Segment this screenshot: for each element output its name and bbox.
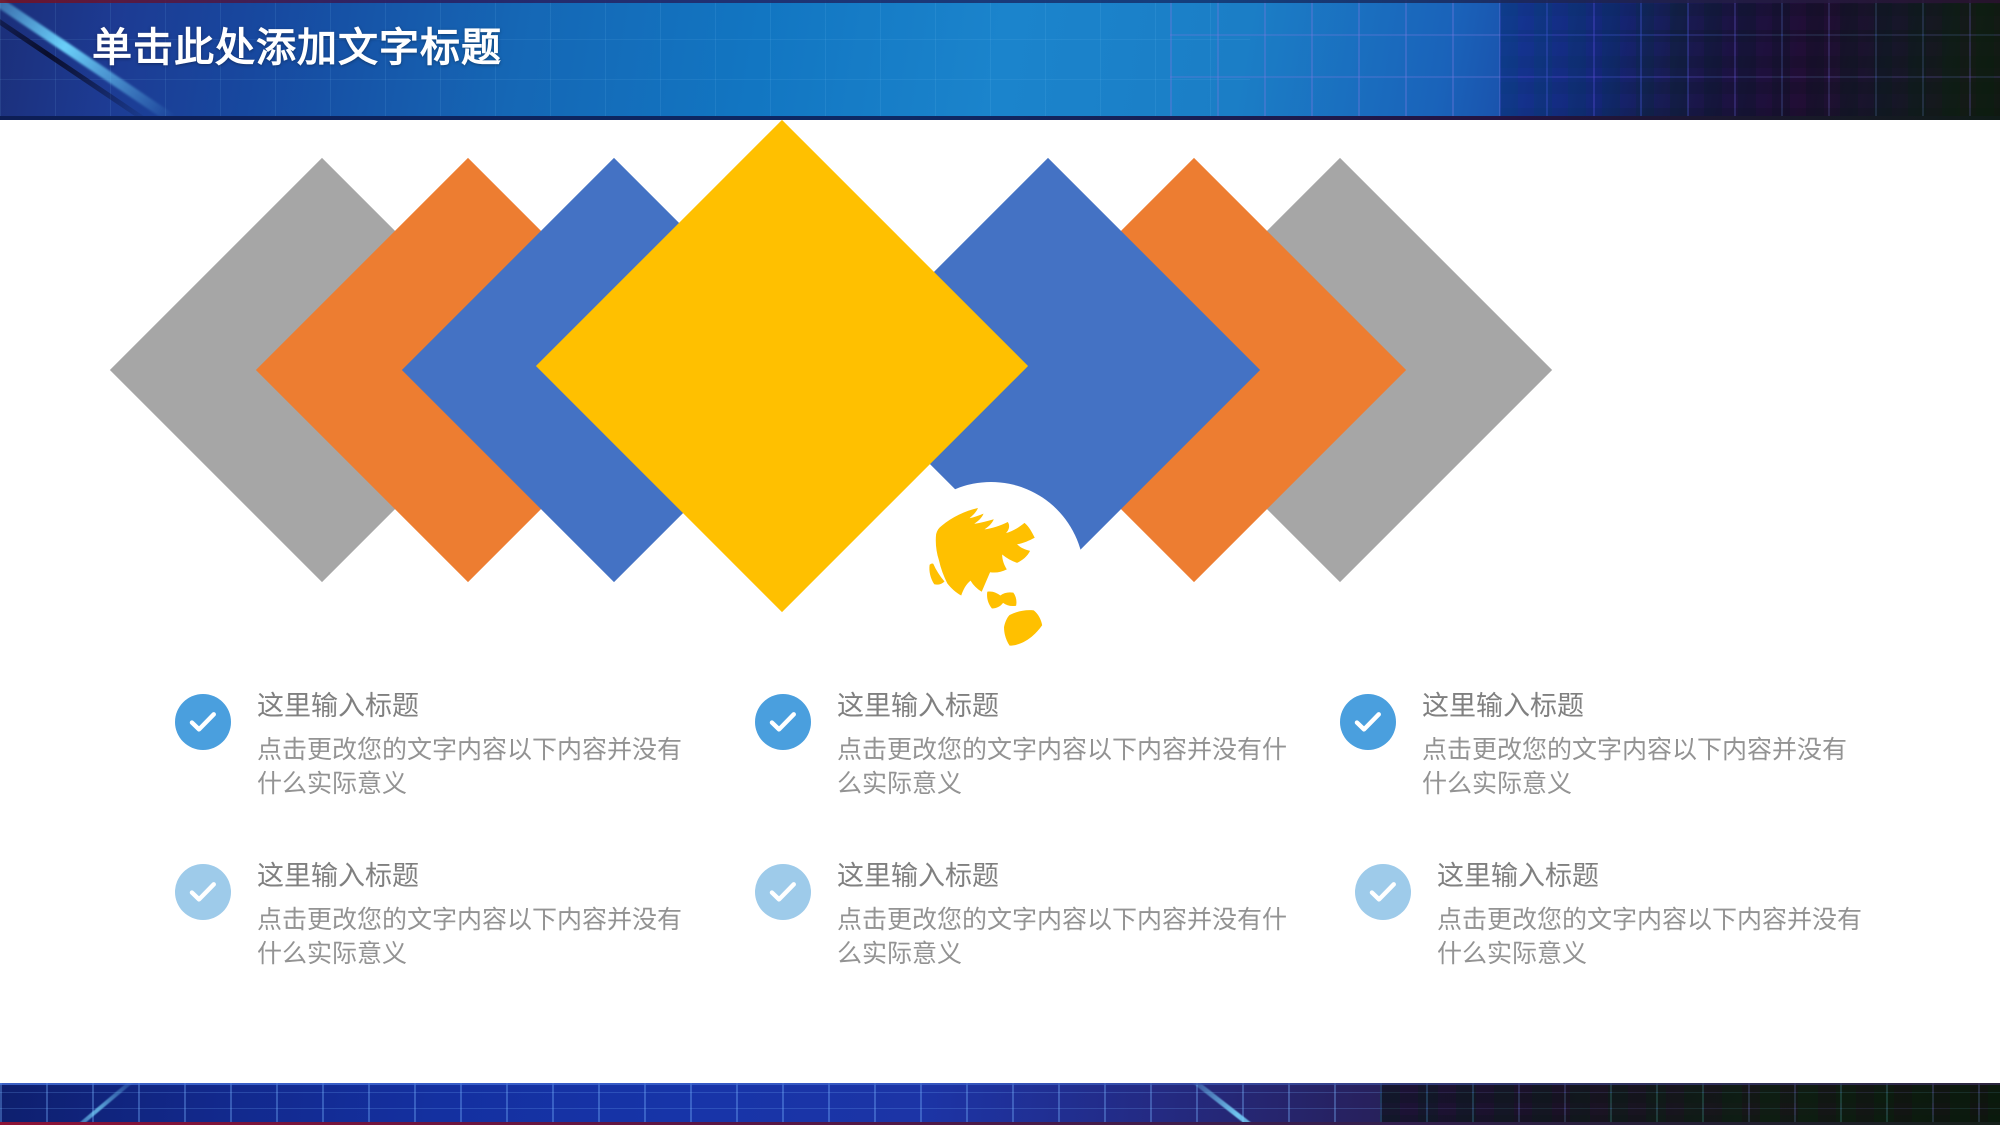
check-circle-icon <box>1355 864 1411 920</box>
list-item-title: 这里输入标题 <box>257 860 687 894</box>
footer-top-rule <box>0 1083 2000 1085</box>
list-item-title: 这里输入标题 <box>837 860 1305 894</box>
list-item-text: 这里输入标题点击更改您的文字内容以下内容并没有什么实际意义 <box>257 690 687 802</box>
list-item[interactable]: 这里输入标题点击更改您的文字内容以下内容并没有什么实际意义 <box>1340 690 1840 802</box>
list-item-description: 点击更改您的文字内容以下内容并没有什么实际意义 <box>1437 903 1882 972</box>
check-circle-icon <box>175 694 231 750</box>
check-circle-icon <box>755 864 811 920</box>
list-item-title: 这里输入标题 <box>837 690 1305 724</box>
list-item[interactable]: 这里输入标题点击更改您的文字内容以下内容并没有什么实际意义 <box>175 860 675 972</box>
check-circle-icon <box>1340 694 1396 750</box>
page-title: 单击此处添加文字标题 <box>92 23 502 73</box>
header-circuit-texture <box>1500 0 2000 120</box>
list-item[interactable]: 这里输入标题点击更改您的文字内容以下内容并没有什么实际意义 <box>175 690 675 802</box>
list-item-description: 点击更改您的文字内容以下内容并没有什么实际意义 <box>257 903 687 972</box>
list-item-title: 这里输入标题 <box>1437 860 1882 894</box>
list-item-text: 这里输入标题点击更改您的文字内容以下内容并没有什么实际意义 <box>1422 690 1867 802</box>
list-item-title: 这里输入标题 <box>1422 690 1867 724</box>
chevron-diamond-diagram <box>0 120 2000 680</box>
list-item-description: 点击更改您的文字内容以下内容并没有什么实际意义 <box>1422 733 1867 802</box>
list-item-text: 这里输入标题点击更改您的文字内容以下内容并没有什么实际意义 <box>257 860 687 972</box>
header-top-rule <box>0 0 2000 3</box>
bullet-items-grid: 这里输入标题点击更改您的文字内容以下内容并没有什么实际意义这里输入标题点击更改您… <box>0 690 2000 1050</box>
list-item[interactable]: 这里输入标题点击更改您的文字内容以下内容并没有什么实际意义 <box>1355 860 1855 972</box>
check-circle-icon <box>175 864 231 920</box>
footer-circuit-texture <box>1380 1083 2000 1125</box>
list-item-title: 这里输入标题 <box>257 690 687 724</box>
list-item-description: 点击更改您的文字内容以下内容并没有什么实际意义 <box>257 733 687 802</box>
list-item[interactable]: 这里输入标题点击更改您的文字内容以下内容并没有什么实际意义 <box>755 690 1255 802</box>
slide-header-banner: 单击此处添加文字标题 <box>0 0 2000 120</box>
list-item-text: 这里输入标题点击更改您的文字内容以下内容并没有什么实际意义 <box>1437 860 1882 972</box>
check-circle-icon <box>755 694 811 750</box>
list-item-description: 点击更改您的文字内容以下内容并没有什么实际意义 <box>837 903 1305 972</box>
list-item[interactable]: 这里输入标题点击更改您的文字内容以下内容并没有什么实际意义 <box>755 860 1255 972</box>
list-item-text: 这里输入标题点击更改您的文字内容以下内容并没有什么实际意义 <box>837 860 1305 972</box>
list-item-text: 这里输入标题点击更改您的文字内容以下内容并没有什么实际意义 <box>837 690 1305 802</box>
list-item-description: 点击更改您的文字内容以下内容并没有什么实际意义 <box>837 733 1305 802</box>
slide-footer-banner <box>0 1083 2000 1125</box>
